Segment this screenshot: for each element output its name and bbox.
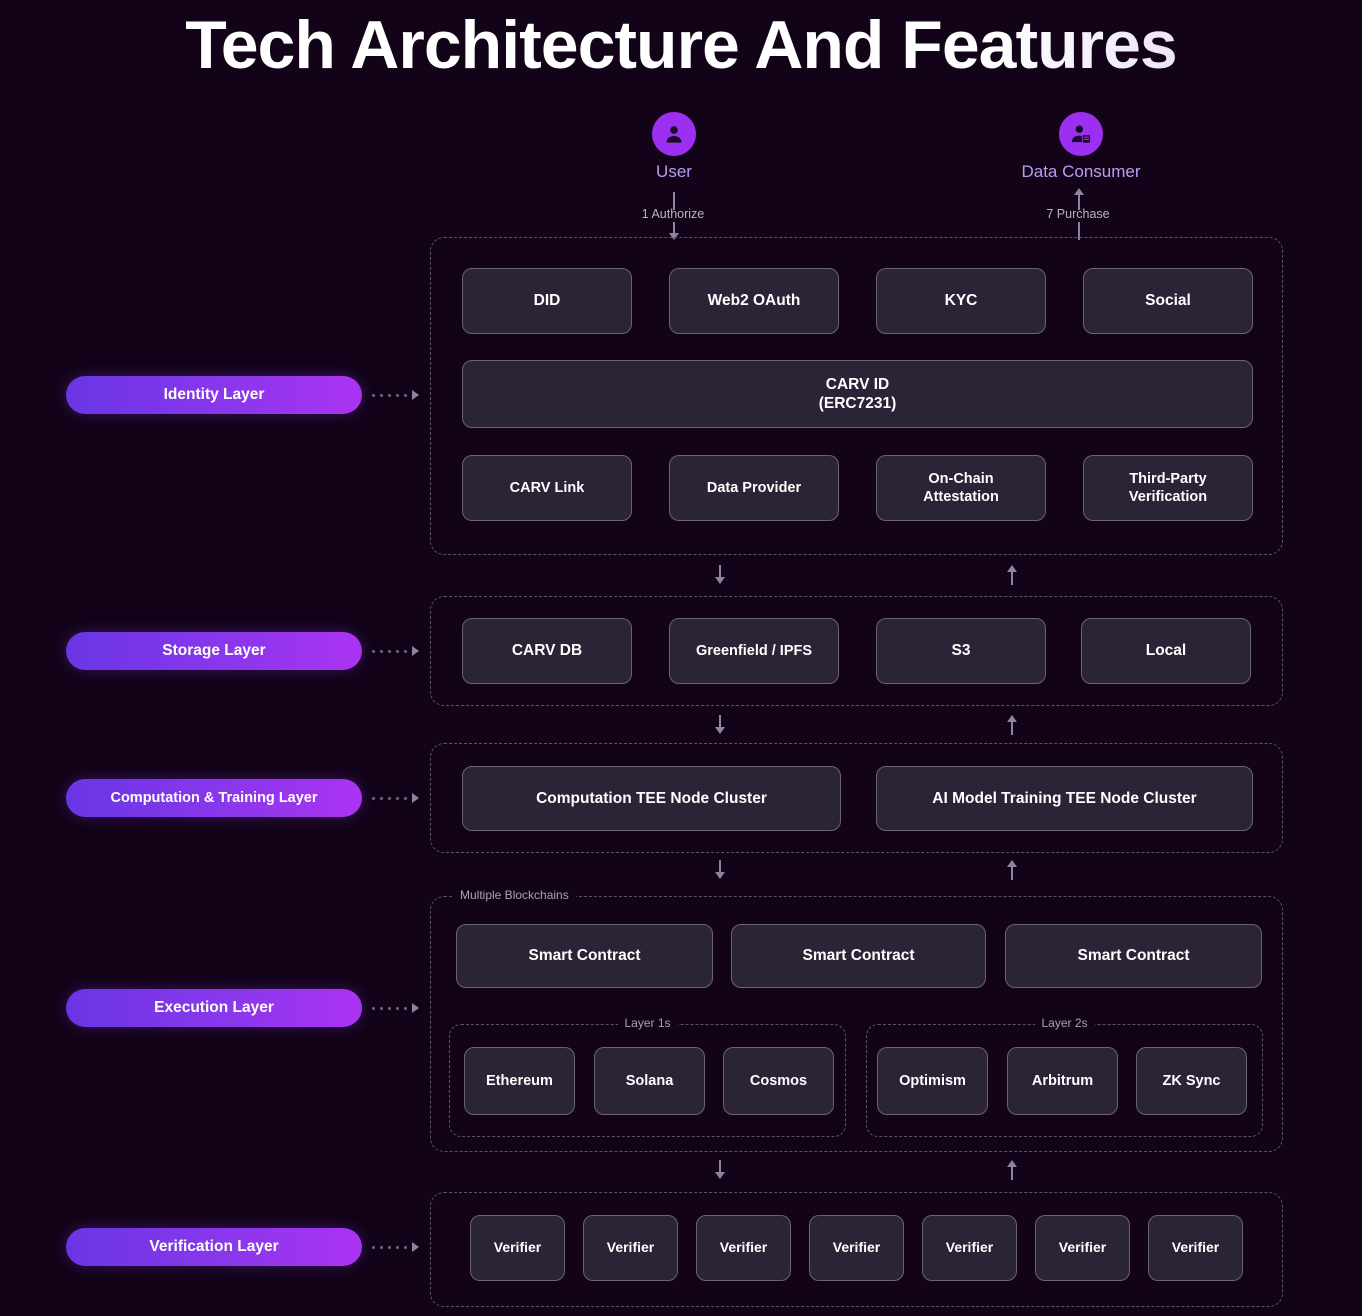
- node-ethereum[interactable]: Ethereum: [464, 1047, 575, 1115]
- connector-dot: [372, 1007, 375, 1010]
- connector-dot: [380, 1246, 383, 1249]
- node-smart-contract-2[interactable]: Smart Contract: [731, 924, 986, 988]
- actor-user-label: User: [574, 162, 774, 182]
- user-icon: [652, 112, 696, 156]
- connector-dot: [404, 650, 407, 653]
- actor-data-consumer-label: Data Consumer: [981, 162, 1181, 182]
- node-verifier-3[interactable]: Verifier: [696, 1215, 791, 1281]
- flow-down-execution-verification-arrow: [715, 1172, 725, 1179]
- connector-dot: [388, 394, 391, 397]
- node-local[interactable]: Local: [1081, 618, 1251, 684]
- node-ai-training-tee-cluster[interactable]: AI Model Training TEE Node Cluster: [876, 766, 1253, 831]
- actor-user: User: [574, 112, 774, 182]
- node-social[interactable]: Social: [1083, 268, 1253, 334]
- connector-verification: [372, 1242, 419, 1252]
- node-data-provider[interactable]: Data Provider: [669, 455, 839, 521]
- flow-down-computation-execution-arrow: [715, 872, 725, 879]
- layer-badge-execution[interactable]: Execution Layer: [66, 989, 362, 1027]
- connector-dot: [396, 797, 399, 800]
- node-optimism[interactable]: Optimism: [877, 1047, 988, 1115]
- connector-arrow-icon: [412, 390, 419, 400]
- node-onchain-attestation[interactable]: On-Chain Attestation: [876, 455, 1046, 521]
- connector-dot: [372, 394, 375, 397]
- connector-dot: [396, 650, 399, 653]
- node-verifier-7[interactable]: Verifier: [1148, 1215, 1243, 1281]
- consumer-purchase-label: 7 Purchase: [978, 207, 1178, 221]
- node-carv-id[interactable]: CARV ID (ERC7231): [462, 360, 1253, 428]
- node-cosmos[interactable]: Cosmos: [723, 1047, 834, 1115]
- connector-computation: [372, 793, 419, 803]
- node-verifier-2[interactable]: Verifier: [583, 1215, 678, 1281]
- connector-dot: [404, 1007, 407, 1010]
- layer-badge-verification[interactable]: Verification Layer: [66, 1228, 362, 1266]
- connector-dot: [404, 797, 407, 800]
- node-verifier-6[interactable]: Verifier: [1035, 1215, 1130, 1281]
- actor-data-consumer: Data Consumer: [981, 112, 1181, 182]
- connector-dot: [396, 1246, 399, 1249]
- connector-dot: [380, 1007, 383, 1010]
- connector-dot: [396, 394, 399, 397]
- multiple-blockchains-caption: Multiple Blockchains: [453, 888, 576, 902]
- node-verifier-1[interactable]: Verifier: [470, 1215, 565, 1281]
- node-kyc[interactable]: KYC: [876, 268, 1046, 334]
- flow-down-identity-storage-arrow: [715, 577, 725, 584]
- connector-dot: [372, 797, 375, 800]
- connector-arrow-icon: [412, 646, 419, 656]
- user-authorize-label: 1 Authorize: [573, 207, 773, 221]
- node-third-party-verification[interactable]: Third-Party Verification: [1083, 455, 1253, 521]
- connector-arrow-icon: [412, 793, 419, 803]
- flow-up-verification-execution: [1011, 1166, 1013, 1180]
- node-zk-sync[interactable]: ZK Sync: [1136, 1047, 1247, 1115]
- node-did[interactable]: DID: [462, 268, 632, 334]
- node-greenfield-ipfs[interactable]: Greenfield / IPFS: [669, 618, 839, 684]
- connector-dot: [388, 797, 391, 800]
- connector-dot: [372, 1246, 375, 1249]
- consumer-purchase-arrow: [1074, 188, 1084, 195]
- group-layer2s-caption: Layer 2s: [1034, 1016, 1094, 1030]
- node-solana[interactable]: Solana: [594, 1047, 705, 1115]
- group-layer1s-caption: Layer 1s: [617, 1016, 677, 1030]
- connector-dot: [404, 394, 407, 397]
- connector-dot: [396, 1007, 399, 1010]
- connector-dot: [380, 394, 383, 397]
- connector-arrow-icon: [412, 1242, 419, 1252]
- flow-up-storage-identity: [1011, 571, 1013, 585]
- page-title: Tech Architecture And Features: [0, 6, 1362, 84]
- node-carv-link[interactable]: CARV Link: [462, 455, 632, 521]
- node-smart-contract-1[interactable]: Smart Contract: [456, 924, 713, 988]
- node-web2-oauth[interactable]: Web2 OAuth: [669, 268, 839, 334]
- node-verifier-4[interactable]: Verifier: [809, 1215, 904, 1281]
- connector-identity: [372, 390, 419, 400]
- layer-badge-identity[interactable]: Identity Layer: [66, 376, 362, 414]
- data-consumer-icon: [1059, 112, 1103, 156]
- node-smart-contract-3[interactable]: Smart Contract: [1005, 924, 1262, 988]
- node-verifier-5[interactable]: Verifier: [922, 1215, 1017, 1281]
- connector-dot: [404, 1246, 407, 1249]
- connector-dot: [388, 650, 391, 653]
- layer-badge-storage[interactable]: Storage Layer: [66, 632, 362, 670]
- connector-arrow-icon: [412, 1003, 419, 1013]
- node-carv-db[interactable]: CARV DB: [462, 618, 632, 684]
- layer-badge-computation[interactable]: Computation & Training Layer: [66, 779, 362, 817]
- flow-down-storage-computation-arrow: [715, 727, 725, 734]
- node-arbitrum[interactable]: Arbitrum: [1007, 1047, 1118, 1115]
- flow-up-execution-computation: [1011, 866, 1013, 880]
- connector-dot: [388, 1007, 391, 1010]
- connector-storage: [372, 646, 419, 656]
- node-s3[interactable]: S3: [876, 618, 1046, 684]
- flow-up-computation-storage: [1011, 721, 1013, 735]
- connector-dot: [380, 797, 383, 800]
- connector-dot: [372, 650, 375, 653]
- connector-execution: [372, 1003, 419, 1013]
- connector-dot: [388, 1246, 391, 1249]
- node-computation-tee-cluster[interactable]: Computation TEE Node Cluster: [462, 766, 841, 831]
- connector-dot: [380, 650, 383, 653]
